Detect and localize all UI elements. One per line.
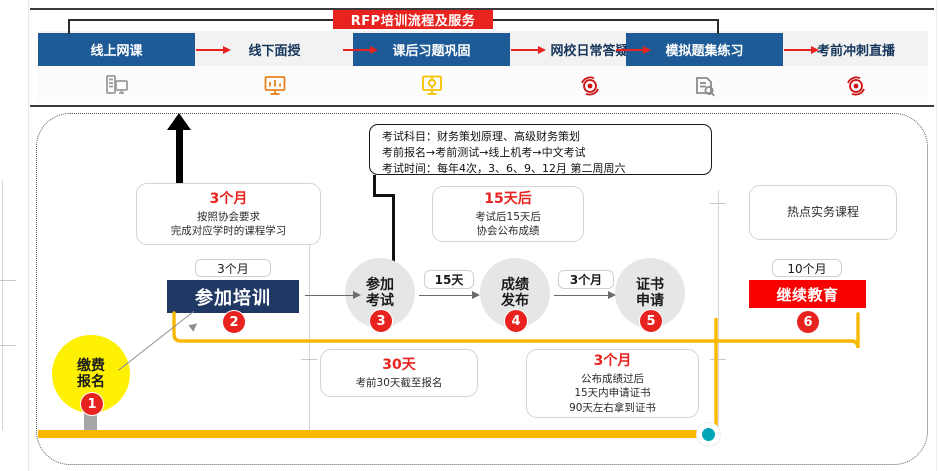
card-certificate-timeline: 3个月 公布成绩过后 15天内申请证书 90天左右拿到证书 xyxy=(526,349,699,418)
flow-node-6-tag: 10个月 xyxy=(772,259,842,277)
step-label-0: 线上网课 xyxy=(90,40,142,59)
gridline xyxy=(718,190,719,430)
card-training-duration: 3个月 按照协会要求 完成对应学时的课程学习 xyxy=(136,183,321,245)
flow-node-2-tag: 3个月 xyxy=(195,259,271,277)
connector-label-exam-to-result: 15天 xyxy=(424,270,474,289)
card-line: 协会公布成绩 xyxy=(477,224,540,238)
flow-node-4-label-0: 成绩 xyxy=(501,277,529,293)
timeline-end-marker[interactable] xyxy=(697,423,720,446)
step-label-5: 考前冲刺直播 xyxy=(817,40,895,59)
gridline-tick xyxy=(301,359,317,360)
flow-node-6-badge: 6 xyxy=(796,310,820,334)
flow-node-2-badge: 2 xyxy=(222,310,246,334)
title-bracket-right-drop xyxy=(717,19,719,34)
card-line: 90天左右拿到证书 xyxy=(569,401,656,415)
exam-info-line-2: 考试时间：每年4次，3、6、9、12月 第二周周六 xyxy=(382,161,711,177)
flow-node-1-label-0: 缴费 xyxy=(77,358,105,374)
flow-node-4-label-1: 发布 xyxy=(501,293,529,309)
flow-node-4-badge: 4 xyxy=(504,309,528,333)
card-line: 考试后15天后 xyxy=(475,210,541,224)
card-result-release: 15天后 考试后15天后 协会公布成绩 xyxy=(432,186,584,242)
card-highlight: 15天后 xyxy=(484,190,531,209)
timeline-bar xyxy=(38,430,716,438)
card-highlight: 3个月 xyxy=(594,352,632,371)
step-tab-0[interactable]: 线上网课 xyxy=(38,33,195,66)
flow-node-6-label: 继续教育 xyxy=(776,284,838,305)
bar-chart-monitor-icon xyxy=(196,70,353,102)
card-hot-topic-course[interactable]: 热点实务课程 xyxy=(749,185,897,240)
step-label-4: 模拟题集练习 xyxy=(665,40,743,59)
node4-to-node5-arrow xyxy=(554,291,616,300)
card-highlight: 3个月 xyxy=(210,190,248,209)
title-bracket-left xyxy=(68,19,334,21)
card-line: 15天内申请证书 xyxy=(574,386,650,400)
flow-node-1-label-1: 报名 xyxy=(77,374,105,390)
card-registration-deadline: 30天 考前30天截至报名 xyxy=(320,349,478,397)
card-label: 热点实务课程 xyxy=(787,204,859,220)
gridline xyxy=(2,180,3,430)
card-line: 完成对应学时的课程学习 xyxy=(171,224,287,238)
gridline-tick xyxy=(0,345,16,346)
gridline-tick xyxy=(710,359,726,360)
page-edge-left xyxy=(28,0,29,471)
flow-node-3-label-0: 参加 xyxy=(366,277,394,293)
flow-node-3-label-1: 考试 xyxy=(366,293,394,309)
gridline-tick xyxy=(710,203,726,204)
step-label-2: 课后习题巩固 xyxy=(392,40,470,59)
flow-node-2[interactable]: 参加培训 xyxy=(167,280,299,313)
flow-node-2-label: 参加培训 xyxy=(195,284,271,310)
flow-node-5-label-1: 申请 xyxy=(636,293,664,309)
step-arrow-0 xyxy=(196,46,236,54)
banner-bottom-rule xyxy=(30,105,934,107)
exam-info-line-0: 考试科目：财务策划原理、高级财务策划 xyxy=(382,129,711,145)
timeline-end-dot xyxy=(702,428,715,441)
flow-node-6[interactable]: 继续教育 xyxy=(749,280,866,308)
document-search-icon xyxy=(626,70,783,102)
title-bracket-right xyxy=(492,19,718,21)
node2-to-node3-arrow xyxy=(305,291,361,300)
connector-label-result-to-cert: 3个月 xyxy=(558,270,614,289)
devices-icon xyxy=(38,70,195,102)
card-highlight: 30天 xyxy=(382,356,415,375)
step-arrow-2 xyxy=(511,46,551,54)
page-edge-right xyxy=(936,0,937,471)
node3-to-node4-arrow xyxy=(419,291,480,300)
flow-node-1-badge: 1 xyxy=(80,392,104,416)
title-bracket-left-drop xyxy=(68,19,70,34)
flow-node-3-badge: 3 xyxy=(369,309,393,333)
page-title: RFP培训流程及服务 xyxy=(333,10,493,29)
gear-monitor-icon xyxy=(353,70,510,102)
flow-node-5-badge: 5 xyxy=(639,309,663,333)
step-arrow-3 xyxy=(616,46,656,54)
step-label-1: 线下面授 xyxy=(248,40,300,59)
step-arrow-4 xyxy=(784,46,824,54)
exam-info-box: 考试科目：财务策划原理、高级财务策划 考前报名→考前测试→线上机考→中文考试 考… xyxy=(369,124,712,175)
card-line: 公布成绩过后 xyxy=(581,372,644,386)
card-line: 考前30天截至报名 xyxy=(356,376,443,390)
card-line: 按照协会要求 xyxy=(197,210,260,224)
infographic-canvas: RFP培训流程及服务 线上网课 线下面授 课后习题巩固 网校日常答疑 xyxy=(0,0,938,471)
gridline-tick xyxy=(0,280,16,281)
flow-node-5-label-0: 证书 xyxy=(636,277,664,293)
refresh-gear-icon xyxy=(784,70,928,102)
exam-info-line-1: 考前报名→考前测试→线上机考→中文考试 xyxy=(382,145,711,161)
step-arrow-1 xyxy=(343,46,383,54)
